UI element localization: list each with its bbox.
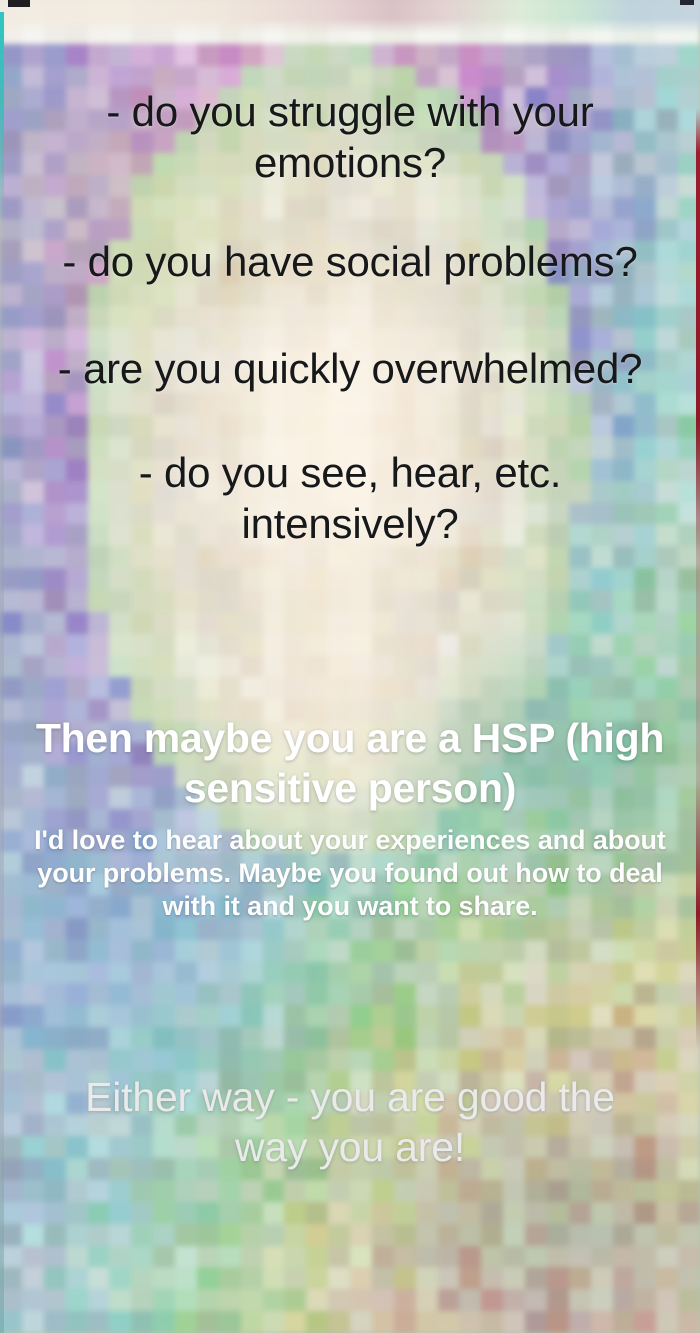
body-copy: I'd love to hear about your experiences … [0, 824, 700, 923]
question-3-line-1: - are you quickly overwhelmed? [0, 343, 700, 394]
headline-line-2: sensitive person) [12, 763, 688, 813]
question-item-3: - are you quickly overwhelmed? [0, 343, 700, 394]
image-text-card: - do you struggle with your emotions? - … [0, 0, 700, 1333]
body-copy-line-2: your problems. Maybe you found out how t… [16, 857, 684, 890]
headline: Then maybe you are a HSP (high sensitive… [0, 713, 700, 813]
question-item-2: - do you have social problems? [0, 236, 700, 287]
headline-line-1: Then maybe you are a HSP (high [12, 713, 688, 763]
body-copy-line-1: I'd love to hear about your experiences … [16, 824, 684, 857]
text-overlay: - do you struggle with your emotions? - … [0, 0, 700, 1333]
question-4-line-2: intensively? [0, 498, 700, 549]
question-item-1: - do you struggle with your emotions? [0, 86, 700, 188]
question-1-line-1: - do you struggle with your [0, 86, 700, 137]
question-4-line-1: - do you see, hear, etc. [0, 447, 700, 498]
closing-line-1: Either way - you are good the [20, 1072, 680, 1122]
closing-line-2: way you are! [20, 1122, 680, 1172]
question-1-line-2: emotions? [0, 137, 700, 188]
question-2-line-1: - do you have social problems? [0, 236, 700, 287]
body-copy-line-3: with it and you want to share. [16, 890, 684, 923]
question-item-4: - do you see, hear, etc. intensively? [0, 447, 700, 549]
closing-message: Either way - you are good the way you ar… [0, 1072, 700, 1172]
